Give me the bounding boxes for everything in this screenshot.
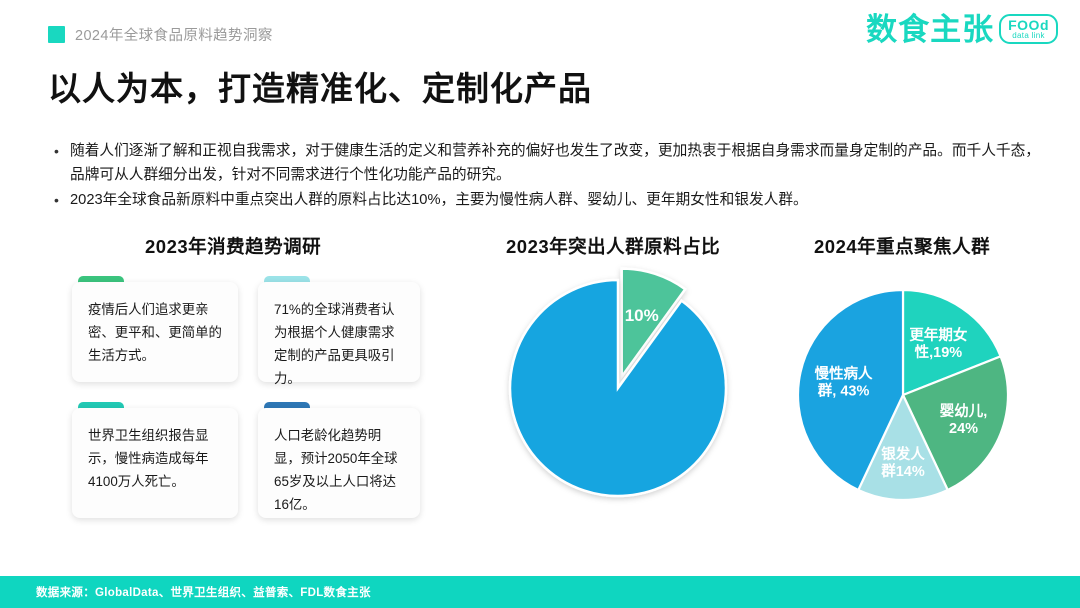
bullet-text: 随着人们逐渐了解和正视自我需求，对于健康生活的定义和营养补充的偏好也发生了改变，… <box>70 140 1040 188</box>
list-item: • 2023年全球食品新原料中重点突出人群的原料占比达10%，主要为慢性病人群、… <box>48 189 1040 213</box>
section-title-focus: 2024年重点聚焦人群 <box>814 233 990 259</box>
bullet-text: 2023年全球食品新原料中重点突出人群的原料占比达10%，主要为慢性病人群、婴幼… <box>70 189 1040 213</box>
pie-slice-label: 更年期女性,19% <box>909 326 967 361</box>
footer-bar: 数据来源：GlobalData、世界卫生组织、益普索、FDL数食主张 <box>0 576 1080 608</box>
card-text: 世界卫生组织报告显示，慢性病造成每年4100万人死亡。 <box>72 408 238 518</box>
pie-slice-label: 慢性病人群, 43% <box>815 365 873 400</box>
card-text: 疫情后人们追求更亲密、更平和、更简单的生活方式。 <box>72 282 238 382</box>
insight-card-grid: 疫情后人们追求更亲密、更平和、更简单的生活方式。 71%的全球消费者认为根据个人… <box>72 276 422 526</box>
bullet-marker-icon: • <box>48 189 70 212</box>
card-text: 人口老龄化趋势明显，预计2050年全球65岁及以上人口将达16亿。 <box>258 408 420 518</box>
logo-badge-top-text: FOOd <box>1008 18 1049 32</box>
pie-slice-其他原料 <box>510 280 726 496</box>
list-item: • 随着人们逐渐了解和正视自我需求，对于健康生活的定义和营养补充的偏好也发生了改… <box>48 140 1040 188</box>
logo-badge-bottom-text: data link <box>1008 32 1049 40</box>
header-kicker: 2024年全球食品原料趋势洞察 <box>48 24 273 45</box>
pie-chart-share: 10% <box>488 258 748 518</box>
data-source-text: 数据来源：GlobalData、世界卫生组织、益普索、FDL数食主张 <box>36 584 371 600</box>
pie-slice-label: 银发人群14% <box>881 445 925 480</box>
logo-badge: FOOd data link <box>999 14 1058 44</box>
section-title-share: 2023年突出人群原料占比 <box>506 233 720 259</box>
kicker-label: 2024年全球食品原料趋势洞察 <box>75 24 273 45</box>
accent-square-icon <box>48 26 65 43</box>
bullet-marker-icon: • <box>48 140 70 163</box>
slide-canvas: 2024年全球食品原料趋势洞察 数食主张 FOOd data link 以人为本… <box>0 0 1080 608</box>
brand-logo: 数食主张 FOOd data link <box>866 14 1058 45</box>
section-title-survey: 2023年消费趋势调研 <box>145 233 321 259</box>
bullet-list: • 随着人们逐渐了解和正视自我需求，对于健康生活的定义和营养补充的偏好也发生了改… <box>48 140 1040 213</box>
page-title: 以人为本，打造精准化、定制化产品 <box>48 62 592 110</box>
logo-chinese-text: 数食主张 <box>866 14 994 45</box>
pie-chart-focus-groups: 更年期女性,19%婴幼儿,24%银发人群14%慢性病人群, 43% <box>796 285 1011 505</box>
pie-slice-label: 10% <box>625 306 659 325</box>
card-text: 71%的全球消费者认为根据个人健康需求定制的产品更具吸引力。 <box>258 282 420 382</box>
